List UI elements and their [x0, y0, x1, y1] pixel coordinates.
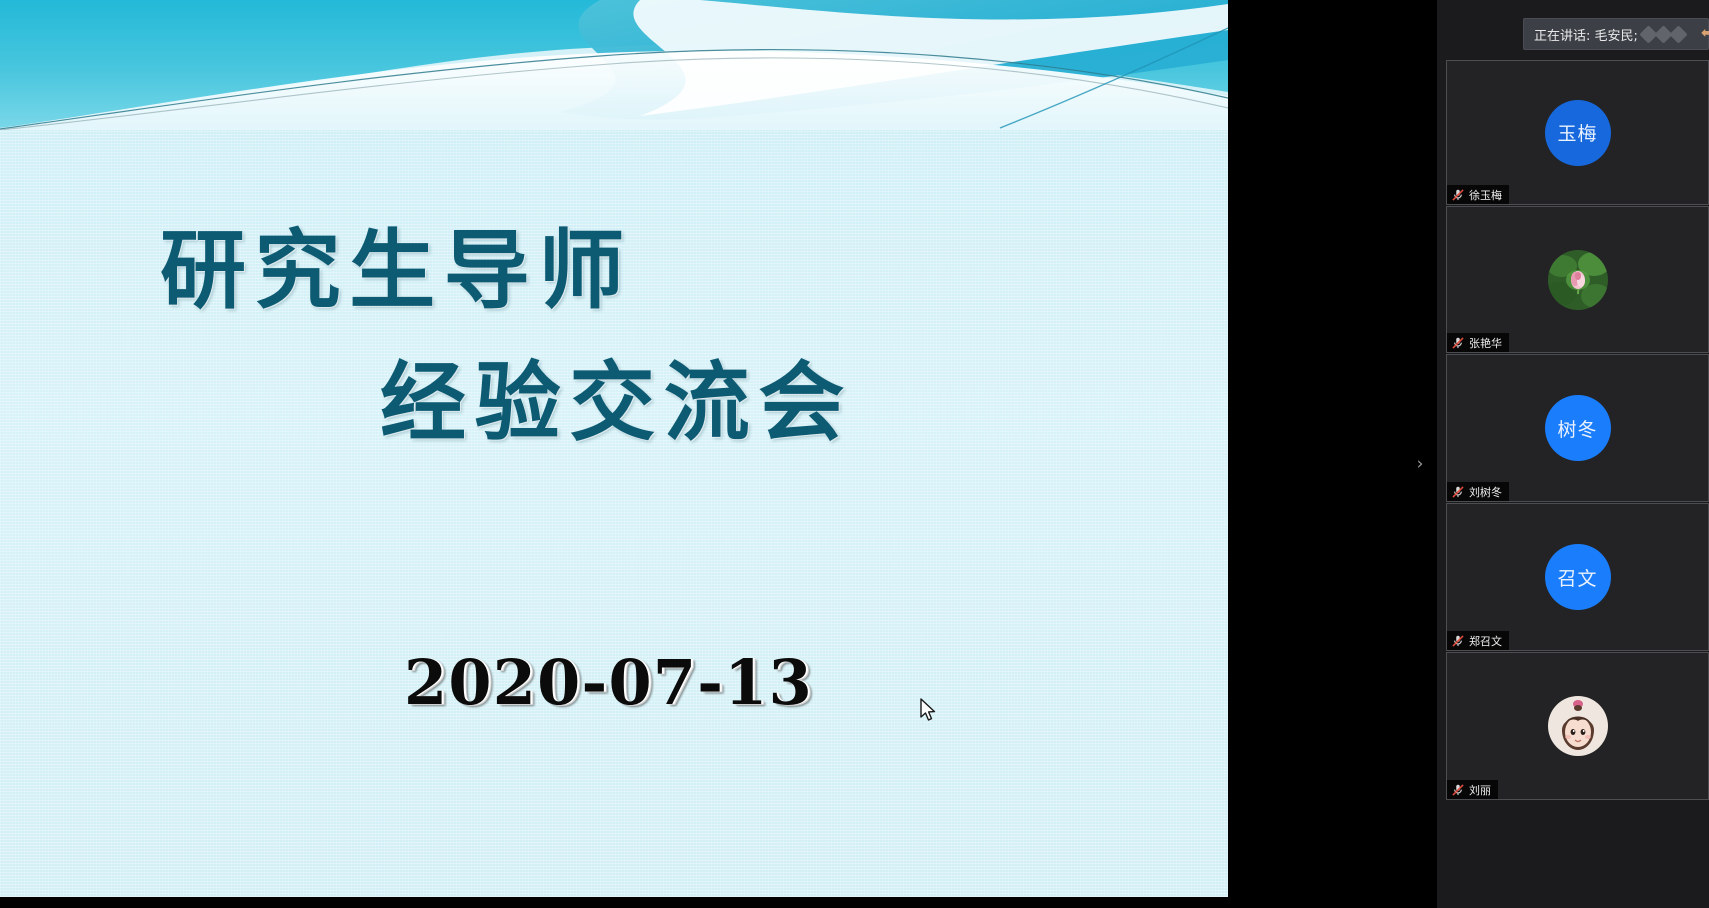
participant-name-chip: 刘树冬: [1447, 482, 1509, 501]
back-arrow-icon[interactable]: ⬅: [1701, 26, 1709, 42]
slide-title-line-1: 研究生导师: [160, 200, 633, 325]
mic-muted-icon: [1451, 783, 1465, 797]
participant-name-chip: 刘丽: [1447, 780, 1498, 799]
avatar: 树冬: [1545, 395, 1611, 461]
chevron-right-icon: ›: [1417, 456, 1424, 473]
mic-muted-icon: [1451, 485, 1465, 499]
participant-name-chip: 张艳华: [1447, 333, 1509, 352]
mic-muted-icon: [1451, 188, 1465, 202]
screen-share-diamonds-icon: [1638, 28, 1685, 41]
participant-tile[interactable]: 刘丽: [1446, 652, 1709, 800]
participant-name: 郑召文: [1469, 633, 1502, 649]
participant-name-chip: 徐玉梅: [1447, 185, 1509, 204]
avatar: 玉梅: [1545, 100, 1611, 166]
slide-date: 2020-07-13: [404, 646, 813, 719]
mic-muted-icon: [1451, 336, 1465, 350]
participant-video-area: 玉梅: [1447, 61, 1708, 204]
participant-video-area: [1447, 653, 1708, 799]
participant-video-area: [1447, 207, 1708, 352]
panel-collapse-handle[interactable]: ›: [1408, 450, 1432, 478]
participant-tile[interactable]: 玉梅徐玉梅: [1446, 60, 1709, 205]
participant-video-area: 召文: [1447, 504, 1708, 650]
participant-name-chip: 郑召文: [1447, 631, 1509, 650]
avatar: 召文: [1545, 544, 1611, 610]
slide-title-line-2: 经验交流会: [380, 332, 853, 457]
participant-tile[interactable]: 召文郑召文: [1446, 503, 1709, 651]
avatar: [1548, 250, 1608, 310]
meeting-window: 研究生导师 经验交流会 2020-07-13 › 正在讲话: 毛安民; ⬅ 玉梅…: [0, 0, 1709, 908]
participant-name: 张艳华: [1469, 335, 1502, 351]
active-speaker-bar[interactable]: 正在讲话: 毛安民; ⬅: [1523, 18, 1709, 50]
participant-name: 刘树冬: [1469, 484, 1502, 500]
arrow-cursor: [919, 698, 937, 724]
shared-screen-region[interactable]: 研究生导师 经验交流会 2020-07-13: [0, 0, 1318, 908]
participant-name: 徐玉梅: [1469, 187, 1502, 203]
slide-wave-decoration: [0, 0, 1228, 130]
avatar: [1548, 696, 1608, 756]
participant-tile[interactable]: 树冬刘树冬: [1446, 354, 1709, 502]
participant-video-area: 树冬: [1447, 355, 1708, 501]
presentation-slide: 研究生导师 经验交流会 2020-07-13: [0, 0, 1228, 897]
participant-tile[interactable]: 张艳华: [1446, 206, 1709, 353]
participant-name: 刘丽: [1469, 782, 1491, 798]
mic-muted-icon: [1451, 634, 1465, 648]
active-speaker-label: 正在讲话: 毛安民;: [1524, 25, 1638, 44]
